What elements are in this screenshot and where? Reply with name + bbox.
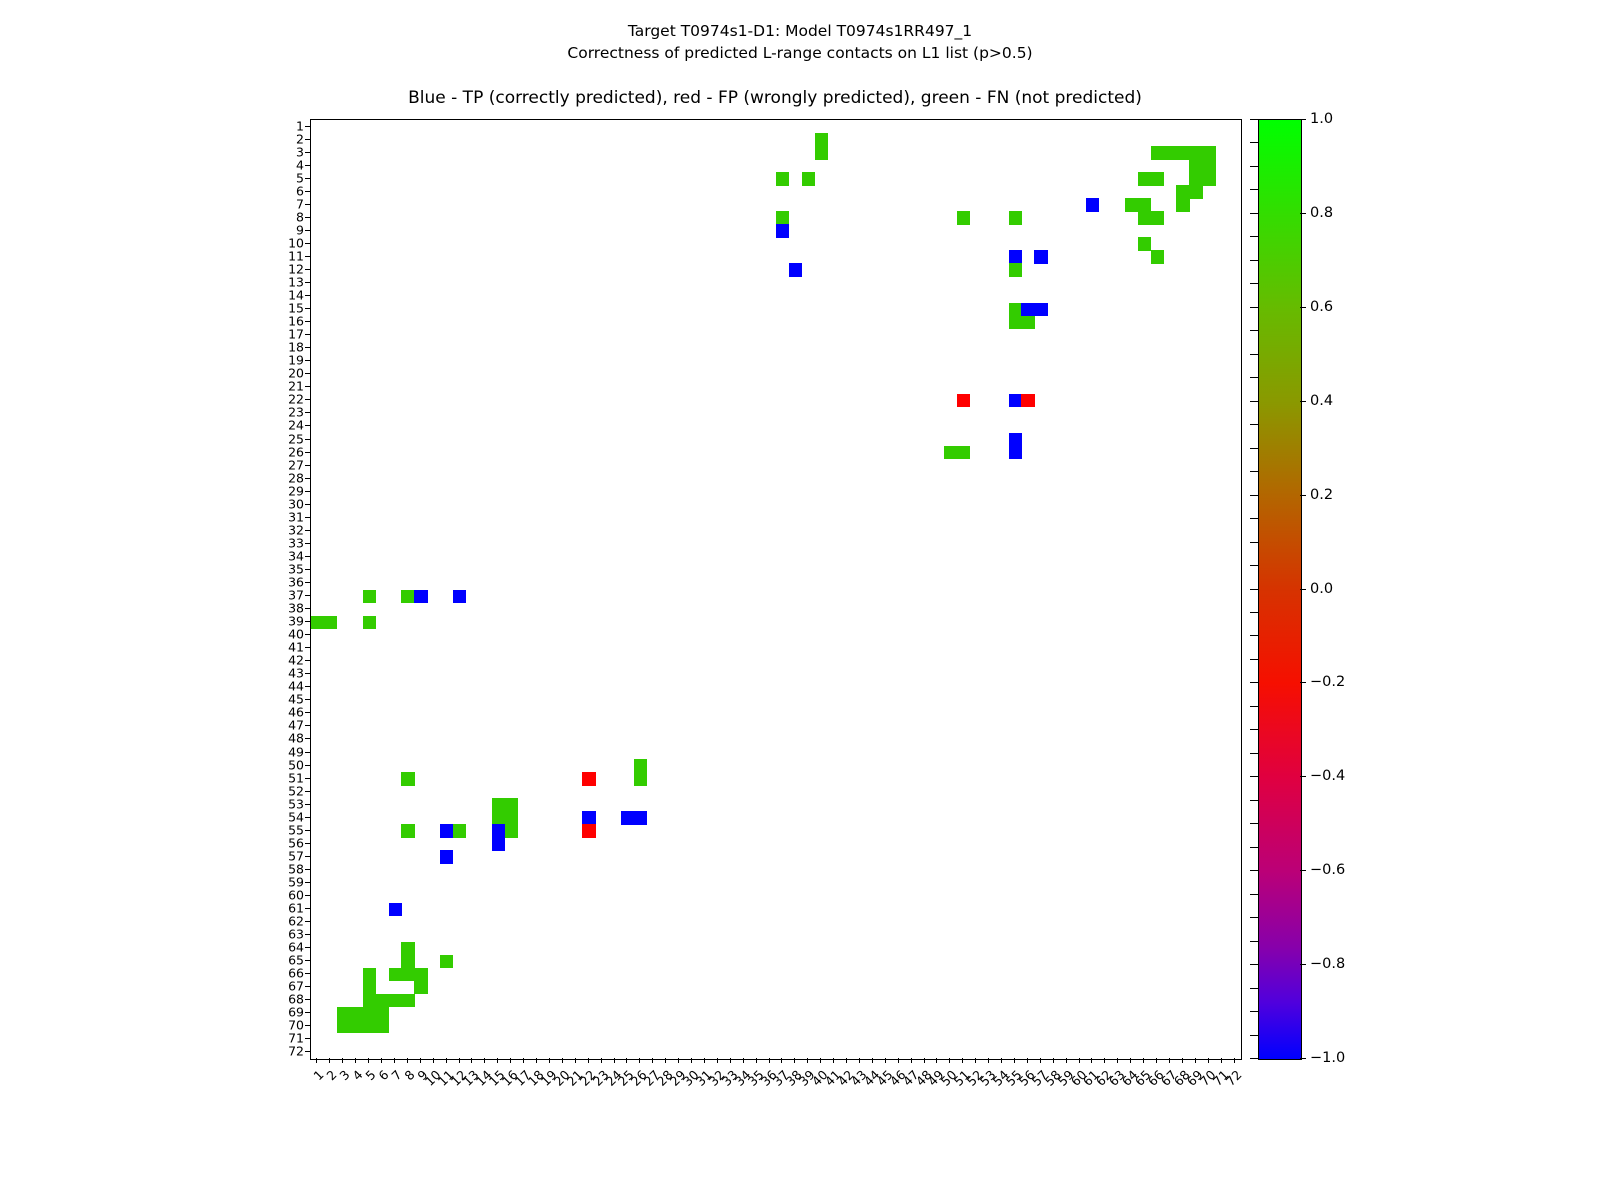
colorbar-minor-tick bbox=[1250, 307, 1258, 308]
heatmap-cell bbox=[815, 133, 828, 146]
x-tick-mark bbox=[1143, 1058, 1144, 1063]
heatmap-cell bbox=[957, 394, 970, 407]
x-tick-mark bbox=[1014, 1058, 1015, 1063]
colorbar-minor-tick bbox=[1250, 1058, 1258, 1059]
colorbar-minor-tick bbox=[1250, 142, 1258, 143]
colorbar-minor-tick bbox=[1250, 635, 1258, 636]
y-tick-mark bbox=[305, 399, 310, 400]
heatmap-cell bbox=[389, 903, 402, 916]
x-tick-mark bbox=[562, 1058, 563, 1063]
y-tick-mark bbox=[305, 452, 310, 453]
y-tick-mark bbox=[305, 504, 310, 505]
heatmap-cell bbox=[957, 446, 970, 459]
heatmap-cell bbox=[363, 981, 376, 994]
y-tick-mark bbox=[305, 204, 310, 205]
x-tick-mark bbox=[316, 1058, 317, 1063]
y-tick-mark bbox=[305, 947, 310, 948]
heatmap-cell bbox=[944, 446, 957, 459]
heatmap-cell bbox=[414, 968, 427, 981]
heatmap-cell bbox=[414, 590, 427, 603]
y-tick-mark bbox=[305, 321, 310, 322]
y-tick-mark bbox=[305, 412, 310, 413]
heatmap-cell bbox=[789, 263, 802, 276]
x-tick-mark bbox=[911, 1058, 912, 1063]
colorbar-tick-mark bbox=[1300, 589, 1306, 590]
heatmap-cell bbox=[401, 968, 414, 981]
y-tick-mark bbox=[305, 804, 310, 805]
colorbar-tick-mark bbox=[1300, 401, 1306, 402]
heatmap-cell bbox=[440, 850, 453, 863]
x-tick-mark bbox=[355, 1058, 356, 1063]
heatmap-cell bbox=[1009, 316, 1022, 329]
x-tick-mark bbox=[756, 1058, 757, 1063]
x-tick-mark bbox=[588, 1058, 589, 1063]
x-tick-mark bbox=[769, 1058, 770, 1063]
colorbar-minor-tick bbox=[1250, 612, 1258, 613]
y-tick-mark bbox=[305, 595, 310, 596]
heatmap-cell bbox=[376, 1007, 389, 1020]
heatmap-cell bbox=[802, 172, 815, 185]
heatmap-cell bbox=[1009, 263, 1022, 276]
x-tick-mark bbox=[1234, 1058, 1235, 1063]
heatmap-cell bbox=[337, 1020, 350, 1033]
heatmap-cell bbox=[505, 811, 518, 824]
y-tick-mark bbox=[305, 165, 310, 166]
y-tick-mark bbox=[305, 295, 310, 296]
heatmap-cell bbox=[1009, 303, 1022, 316]
colorbar-minor-tick bbox=[1250, 753, 1258, 754]
x-tick-mark bbox=[639, 1058, 640, 1063]
heatmap-cell bbox=[350, 1007, 363, 1020]
colorbar-minor-tick bbox=[1250, 424, 1258, 425]
y-tick-mark bbox=[305, 256, 310, 257]
colorbar-minor-tick bbox=[1250, 495, 1258, 496]
colorbar-minor-tick bbox=[1250, 166, 1258, 167]
heatmap-cell bbox=[363, 590, 376, 603]
x-tick-mark bbox=[949, 1058, 950, 1063]
colorbar-minor-tick bbox=[1250, 941, 1258, 942]
figure-title-line2: Correctness of predicted L-range contact… bbox=[0, 42, 1600, 64]
colorbar-minor-tick bbox=[1250, 894, 1258, 895]
y-tick-mark bbox=[305, 152, 310, 153]
colorbar-minor-tick bbox=[1250, 964, 1258, 965]
colorbar-minor-tick bbox=[1250, 401, 1258, 402]
x-tick-mark bbox=[665, 1058, 666, 1063]
x-tick-mark bbox=[1053, 1058, 1054, 1063]
x-tick-mark bbox=[898, 1058, 899, 1063]
y-tick-mark bbox=[305, 556, 310, 557]
y-tick-mark bbox=[305, 712, 310, 713]
x-tick-mark bbox=[1079, 1058, 1080, 1063]
colorbar-tick-label: −0.6 bbox=[1310, 862, 1345, 878]
heatmap-cell bbox=[1034, 303, 1047, 316]
heatmap-cell bbox=[1189, 172, 1202, 185]
y-tick-mark bbox=[305, 830, 310, 831]
colorbar-minor-tick bbox=[1250, 471, 1258, 472]
x-tick-mark bbox=[368, 1058, 369, 1063]
x-tick-mark bbox=[704, 1058, 705, 1063]
heatmap-cell bbox=[1176, 185, 1189, 198]
x-tick-mark bbox=[885, 1058, 886, 1063]
heatmap-cell bbox=[1151, 172, 1164, 185]
colorbar-tick-mark bbox=[1300, 1058, 1306, 1059]
y-tick-mark bbox=[305, 960, 310, 961]
heatmap-cell bbox=[1189, 185, 1202, 198]
x-tick-mark bbox=[626, 1058, 627, 1063]
x-tick-mark bbox=[1195, 1058, 1196, 1063]
y-tick-mark bbox=[305, 843, 310, 844]
heatmap-cell bbox=[363, 1007, 376, 1020]
heatmap-cell bbox=[957, 211, 970, 224]
x-tick-mark bbox=[820, 1058, 821, 1063]
heatmap-cell bbox=[1086, 198, 1099, 211]
colorbar bbox=[1258, 119, 1302, 1060]
heatmap-cell bbox=[363, 994, 376, 1007]
heatmap-cell bbox=[1009, 394, 1022, 407]
heatmap-cell bbox=[1202, 172, 1215, 185]
y-tick-mark bbox=[305, 817, 310, 818]
heatmap-cell bbox=[1021, 316, 1034, 329]
y-tick-mark bbox=[305, 699, 310, 700]
y-tick-mark bbox=[305, 999, 310, 1000]
heatmap-cell bbox=[1202, 146, 1215, 159]
heatmap-cell bbox=[505, 824, 518, 837]
x-tick-mark bbox=[1182, 1058, 1183, 1063]
x-tick-mark bbox=[1156, 1058, 1157, 1063]
y-tick-mark bbox=[305, 686, 310, 687]
heatmap-cell bbox=[776, 224, 789, 237]
heatmap-cell bbox=[1021, 303, 1034, 316]
y-tick-mark bbox=[305, 543, 310, 544]
x-tick-mark bbox=[614, 1058, 615, 1063]
x-tick-mark bbox=[433, 1058, 434, 1063]
colorbar-minor-tick bbox=[1250, 729, 1258, 730]
heatmap-cell bbox=[414, 981, 427, 994]
heatmap-cell bbox=[1164, 146, 1177, 159]
colorbar-minor-tick bbox=[1250, 917, 1258, 918]
y-tick-mark bbox=[305, 908, 310, 909]
x-tick-mark bbox=[859, 1058, 860, 1063]
y-tick-mark bbox=[305, 869, 310, 870]
y-tick-mark bbox=[305, 856, 310, 857]
x-tick-mark bbox=[872, 1058, 873, 1063]
heatmap-cell bbox=[1151, 211, 1164, 224]
heatmap-cell bbox=[1009, 433, 1022, 446]
y-tick-mark bbox=[305, 1025, 310, 1026]
y-tick-mark bbox=[305, 986, 310, 987]
heatmap-cell bbox=[376, 1020, 389, 1033]
heatmap-cell bbox=[1202, 159, 1215, 172]
colorbar-minor-tick bbox=[1250, 659, 1258, 660]
x-tick-mark bbox=[1104, 1058, 1105, 1063]
y-tick-mark bbox=[305, 1051, 310, 1052]
x-tick-mark bbox=[743, 1058, 744, 1063]
x-tick-mark bbox=[1091, 1058, 1092, 1063]
figure-root: Target T0974s1-D1: Model T0974s1RR497_1 … bbox=[0, 0, 1600, 1200]
heatmap-cell bbox=[1138, 237, 1151, 250]
y-tick-mark bbox=[305, 230, 310, 231]
heatmap-cell bbox=[453, 824, 466, 837]
y-tick-mark bbox=[305, 217, 310, 218]
y-tick-mark bbox=[305, 673, 310, 674]
colorbar-minor-tick bbox=[1250, 330, 1258, 331]
colorbar-tick-mark bbox=[1300, 776, 1306, 777]
y-tick-mark bbox=[305, 791, 310, 792]
y-tick-mark bbox=[305, 178, 310, 179]
heatmap-cell bbox=[1176, 198, 1189, 211]
x-tick-mark bbox=[678, 1058, 679, 1063]
y-tick-mark bbox=[305, 765, 310, 766]
y-tick-mark bbox=[305, 752, 310, 753]
y-tick-mark bbox=[305, 517, 310, 518]
x-tick-mark bbox=[536, 1058, 537, 1063]
y-tick-mark bbox=[305, 386, 310, 387]
heatmap-cell bbox=[1138, 172, 1151, 185]
y-tick-mark bbox=[305, 373, 310, 374]
heatmap-cell bbox=[401, 942, 414, 955]
heatmap-cell bbox=[634, 811, 647, 824]
x-tick-mark bbox=[1027, 1058, 1028, 1063]
y-tick-mark bbox=[305, 530, 310, 531]
heatmap-cell bbox=[1125, 198, 1138, 211]
y-tick-mark bbox=[305, 882, 310, 883]
heatmap-cell bbox=[401, 955, 414, 968]
y-tick-mark bbox=[305, 439, 310, 440]
y-tick-mark bbox=[305, 334, 310, 335]
x-tick-mark bbox=[342, 1058, 343, 1063]
x-tick-mark bbox=[924, 1058, 925, 1063]
heatmap-cell bbox=[634, 759, 647, 772]
y-tick-label: 72 bbox=[288, 1044, 304, 1059]
colorbar-tick-mark bbox=[1300, 870, 1306, 871]
x-tick-mark bbox=[420, 1058, 421, 1063]
colorbar-tick-mark bbox=[1300, 495, 1306, 496]
colorbar-tick-mark bbox=[1300, 682, 1306, 683]
x-tick-mark bbox=[407, 1058, 408, 1063]
heatmap-cell bbox=[776, 211, 789, 224]
x-tick-mark bbox=[471, 1058, 472, 1063]
y-tick-mark bbox=[305, 308, 310, 309]
y-tick-mark bbox=[305, 921, 310, 922]
heatmap-cell bbox=[337, 1007, 350, 1020]
heatmap-cell bbox=[401, 994, 414, 1007]
y-tick-mark bbox=[305, 478, 310, 479]
heatmap-cell bbox=[492, 798, 505, 811]
x-tick-mark bbox=[510, 1058, 511, 1063]
figure-title: Target T0974s1-D1: Model T0974s1RR497_1 … bbox=[0, 20, 1600, 64]
heatmap-cell bbox=[492, 837, 505, 850]
heatmap-cell bbox=[1009, 211, 1022, 224]
colorbar-minor-tick bbox=[1250, 260, 1258, 261]
colorbar-tick-mark bbox=[1300, 964, 1306, 965]
y-tick-mark bbox=[305, 895, 310, 896]
colorbar-tick-label: 0.4 bbox=[1310, 393, 1333, 409]
colorbar-minor-tick bbox=[1250, 988, 1258, 989]
y-tick-mark bbox=[305, 282, 310, 283]
colorbar-minor-tick bbox=[1250, 518, 1258, 519]
x-tick-mark bbox=[1169, 1058, 1170, 1063]
colorbar-tick-label: 1.0 bbox=[1310, 111, 1333, 127]
y-tick-mark bbox=[305, 191, 310, 192]
colorbar-tick-label: 0.6 bbox=[1310, 299, 1333, 315]
colorbar-minor-tick bbox=[1250, 776, 1258, 777]
x-tick-mark bbox=[717, 1058, 718, 1063]
heatmap-cell bbox=[363, 968, 376, 981]
figure-title-line1: Target T0974s1-D1: Model T0974s1RR497_1 bbox=[0, 20, 1600, 42]
x-tick-mark bbox=[1066, 1058, 1067, 1063]
heatmap-cell bbox=[1021, 394, 1034, 407]
x-tick-mark bbox=[381, 1058, 382, 1063]
colorbar-tick-label: 0.2 bbox=[1310, 487, 1333, 503]
colorbar-minor-tick bbox=[1250, 823, 1258, 824]
x-tick-mark bbox=[394, 1058, 395, 1063]
heatmap-cell bbox=[582, 811, 595, 824]
colorbar-tick-label: −0.4 bbox=[1310, 768, 1345, 784]
y-tick-mark bbox=[305, 360, 310, 361]
heatmap-cell bbox=[401, 590, 414, 603]
axes-legend-title: Blue - TP (correctly predicted), red - F… bbox=[310, 88, 1240, 108]
x-tick-mark bbox=[833, 1058, 834, 1063]
colorbar-gradient bbox=[1259, 120, 1301, 1059]
colorbar-minor-tick bbox=[1250, 565, 1258, 566]
colorbar-tick-label: −1.0 bbox=[1310, 1050, 1345, 1066]
x-tick-mark bbox=[523, 1058, 524, 1063]
x-tick-mark bbox=[846, 1058, 847, 1063]
colorbar-minor-tick bbox=[1250, 706, 1258, 707]
y-tick-mark bbox=[305, 1038, 310, 1039]
colorbar-minor-tick bbox=[1250, 236, 1258, 237]
colorbar-tick-label: 0.0 bbox=[1310, 581, 1333, 597]
y-tick-mark bbox=[305, 778, 310, 779]
colorbar-minor-tick bbox=[1250, 1011, 1258, 1012]
colorbar-minor-tick bbox=[1250, 870, 1258, 871]
x-tick-mark bbox=[988, 1058, 989, 1063]
heatmap-cell bbox=[363, 616, 376, 629]
heatmap-cell bbox=[582, 772, 595, 785]
colorbar-minor-tick bbox=[1250, 448, 1258, 449]
heatmap-cells bbox=[311, 120, 1241, 1059]
colorbar-minor-tick bbox=[1250, 283, 1258, 284]
heatmap-cell bbox=[776, 172, 789, 185]
heatmap-cell bbox=[1176, 146, 1189, 159]
x-tick-mark bbox=[1040, 1058, 1041, 1063]
x-tick-mark bbox=[446, 1058, 447, 1063]
x-tick-mark bbox=[329, 1058, 330, 1063]
contact-map-plot bbox=[310, 119, 1242, 1060]
colorbar-minor-tick bbox=[1250, 542, 1258, 543]
heatmap-cell bbox=[401, 824, 414, 837]
heatmap-cell bbox=[350, 1020, 363, 1033]
heatmap-cell bbox=[376, 994, 389, 1007]
heatmap-cell bbox=[505, 798, 518, 811]
colorbar-minor-tick bbox=[1250, 119, 1258, 120]
y-tick-mark bbox=[305, 139, 310, 140]
heatmap-cell bbox=[401, 772, 414, 785]
heatmap-cell bbox=[1189, 146, 1202, 159]
y-tick-mark bbox=[305, 725, 310, 726]
colorbar-minor-tick bbox=[1250, 682, 1258, 683]
x-tick-mark bbox=[975, 1058, 976, 1063]
x-tick-mark bbox=[730, 1058, 731, 1063]
colorbar-minor-tick bbox=[1250, 589, 1258, 590]
y-tick-mark bbox=[305, 243, 310, 244]
heatmap-cell bbox=[634, 772, 647, 785]
x-tick-mark bbox=[601, 1058, 602, 1063]
x-tick-mark bbox=[459, 1058, 460, 1063]
heatmap-cell bbox=[1138, 198, 1151, 211]
colorbar-minor-tick bbox=[1250, 847, 1258, 848]
y-tick-mark bbox=[305, 347, 310, 348]
y-tick-mark bbox=[305, 465, 310, 466]
x-tick-mark bbox=[794, 1058, 795, 1063]
colorbar-minor-tick bbox=[1250, 213, 1258, 214]
x-tick-mark bbox=[652, 1058, 653, 1063]
x-tick-mark bbox=[575, 1058, 576, 1063]
y-tick-mark bbox=[305, 934, 310, 935]
y-tick-mark bbox=[305, 660, 310, 661]
heatmap-cell bbox=[389, 994, 402, 1007]
colorbar-minor-tick bbox=[1250, 377, 1258, 378]
heatmap-cell bbox=[1151, 146, 1164, 159]
heatmap-cell bbox=[492, 811, 505, 824]
colorbar-tick-label: −0.2 bbox=[1310, 674, 1345, 690]
x-tick-mark bbox=[781, 1058, 782, 1063]
x-tick-mark bbox=[1221, 1058, 1222, 1063]
y-tick-mark bbox=[305, 569, 310, 570]
y-tick-mark bbox=[305, 738, 310, 739]
x-tick-mark bbox=[1001, 1058, 1002, 1063]
heatmap-cell bbox=[1009, 250, 1022, 263]
x-tick-mark bbox=[936, 1058, 937, 1063]
heatmap-cell bbox=[1189, 159, 1202, 172]
x-tick-mark bbox=[484, 1058, 485, 1063]
x-tick-mark bbox=[497, 1058, 498, 1063]
y-tick-mark bbox=[305, 973, 310, 974]
y-tick-mark bbox=[305, 1012, 310, 1013]
y-tick-mark bbox=[305, 269, 310, 270]
heatmap-cell bbox=[1151, 250, 1164, 263]
colorbar-tick-mark bbox=[1300, 307, 1306, 308]
colorbar-tick-label: 0.8 bbox=[1310, 205, 1333, 221]
y-tick-mark bbox=[305, 634, 310, 635]
heatmap-cell bbox=[582, 824, 595, 837]
heatmap-cell bbox=[389, 968, 402, 981]
heatmap-cell bbox=[363, 1020, 376, 1033]
heatmap-cell bbox=[324, 616, 337, 629]
y-tick-mark bbox=[305, 621, 310, 622]
heatmap-cell bbox=[492, 824, 505, 837]
x-tick-mark bbox=[549, 1058, 550, 1063]
heatmap-cell bbox=[440, 824, 453, 837]
colorbar-minor-tick bbox=[1250, 800, 1258, 801]
colorbar-minor-tick bbox=[1250, 354, 1258, 355]
heatmap-cell bbox=[453, 590, 466, 603]
x-tick-mark bbox=[962, 1058, 963, 1063]
heatmap-cell bbox=[621, 811, 634, 824]
colorbar-tick-mark bbox=[1300, 213, 1306, 214]
y-tick-mark bbox=[305, 491, 310, 492]
x-tick-mark bbox=[807, 1058, 808, 1063]
y-tick-mark bbox=[305, 126, 310, 127]
x-tick-mark bbox=[1208, 1058, 1209, 1063]
colorbar-tick-mark bbox=[1300, 119, 1306, 120]
y-tick-mark bbox=[305, 425, 310, 426]
x-tick-mark bbox=[691, 1058, 692, 1063]
heatmap-cell bbox=[440, 955, 453, 968]
heatmap-cell bbox=[1034, 250, 1047, 263]
x-tick-mark bbox=[1130, 1058, 1131, 1063]
heatmap-cell bbox=[1138, 211, 1151, 224]
